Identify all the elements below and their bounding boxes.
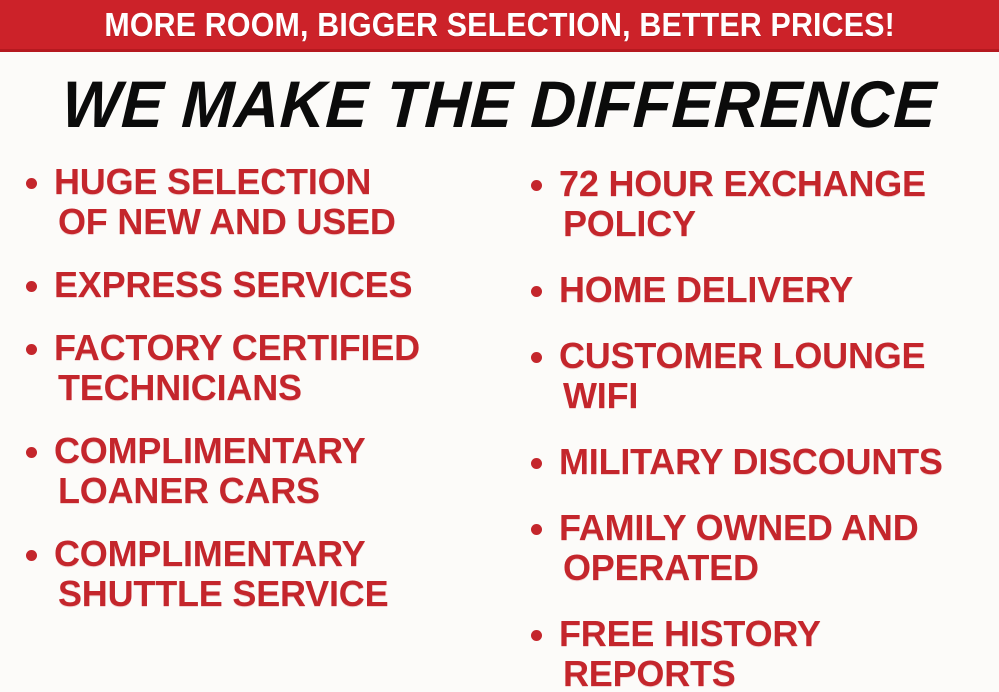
list-item: HOME DELIVERY xyxy=(523,270,999,310)
benefit-line-1: EXPRESS SERVICES xyxy=(54,264,412,305)
benefit-line-1: HOME DELIVERY xyxy=(559,269,853,310)
benefits-column-right: 72 HOUR EXCHANGE POLICY HOME DELIVERY CU… xyxy=(505,156,999,692)
benefit-line-2: TECHNICIANS xyxy=(54,368,505,408)
benefit-list-right: 72 HOUR EXCHANGE POLICY HOME DELIVERY CU… xyxy=(523,164,999,692)
promo-banner-text: MORE ROOM, BIGGER SELECTION, BETTER PRIC… xyxy=(104,8,895,41)
benefit-line-1: MILITARY DISCOUNTS xyxy=(559,441,943,482)
benefit-line-2: WIFI xyxy=(559,376,999,416)
benefit-line-1: FACTORY CERTIFIED xyxy=(54,327,420,368)
benefit-list-left: HUGE SELECTION OF NEW AND USED EXPRESS S… xyxy=(18,162,505,614)
benefit-line-1: HUGE SELECTION xyxy=(54,161,371,202)
benefit-line-2: REPORTS xyxy=(559,654,999,692)
list-item: EXPRESS SERVICES xyxy=(18,265,505,305)
benefit-line-2: LOANER CARS xyxy=(54,471,505,511)
benefit-line-1: 72 HOUR EXCHANGE xyxy=(559,163,926,204)
list-item: MILITARY DISCOUNTS xyxy=(523,442,999,482)
benefit-line-2: OF NEW AND USED xyxy=(54,202,505,242)
benefit-line-1: FREE HISTORY xyxy=(559,613,821,654)
list-item: CUSTOMER LOUNGE WIFI xyxy=(523,336,999,416)
list-item: 72 HOUR EXCHANGE POLICY xyxy=(523,164,999,244)
list-item: COMPLIMENTARY SHUTTLE SERVICE xyxy=(18,534,505,614)
list-item: FAMILY OWNED AND OPERATED xyxy=(523,508,999,588)
benefits-column-left: HUGE SELECTION OF NEW AND USED EXPRESS S… xyxy=(0,156,505,637)
dealership-benefits-ad: MORE ROOM, BIGGER SELECTION, BETTER PRIC… xyxy=(0,0,999,692)
list-item: FREE HISTORY REPORTS xyxy=(523,614,999,692)
benefit-line-1: COMPLIMENTARY xyxy=(54,430,365,471)
benefit-line-1: FAMILY OWNED AND xyxy=(559,507,919,548)
top-promo-banner: MORE ROOM, BIGGER SELECTION, BETTER PRIC… xyxy=(0,0,999,52)
page-title: WE MAKE THE DIFFERENCE xyxy=(61,71,939,137)
list-item: FACTORY CERTIFIED TECHNICIANS xyxy=(18,328,505,408)
list-item: COMPLIMENTARY LOANER CARS xyxy=(18,431,505,511)
benefits-columns: HUGE SELECTION OF NEW AND USED EXPRESS S… xyxy=(0,156,999,692)
headline-area: WE MAKE THE DIFFERENCE xyxy=(0,62,999,146)
benefit-line-2: SHUTTLE SERVICE xyxy=(54,574,505,614)
list-item: HUGE SELECTION OF NEW AND USED xyxy=(18,162,505,242)
benefit-line-1: CUSTOMER LOUNGE xyxy=(559,335,925,376)
benefit-line-2: POLICY xyxy=(559,204,999,244)
benefit-line-2: OPERATED xyxy=(559,548,999,588)
benefit-line-1: COMPLIMENTARY xyxy=(54,533,365,574)
